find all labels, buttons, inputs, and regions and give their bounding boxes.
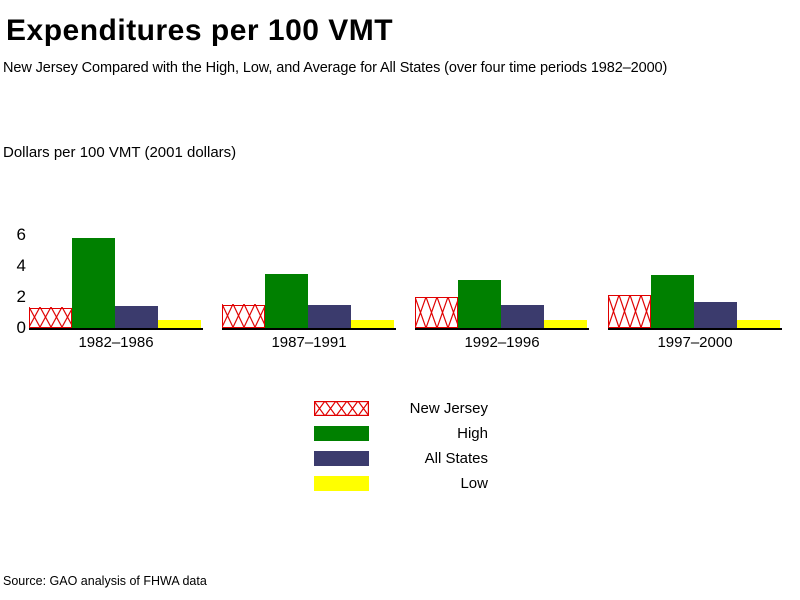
bar-all-states[interactable] xyxy=(308,305,351,328)
bar-high[interactable] xyxy=(265,274,308,328)
x-axis-tick-label: 1987–1991 xyxy=(222,334,396,351)
bar-low[interactable] xyxy=(158,320,201,328)
x-axis-baseline xyxy=(608,328,782,330)
bar-low[interactable] xyxy=(737,320,780,328)
legend-item-high[interactable]: High xyxy=(314,421,488,446)
bar-new-jersey[interactable] xyxy=(608,295,651,328)
x-axis-baseline xyxy=(415,328,589,330)
plot-area: 02461982–19861987–19911992–19961997–2000 xyxy=(0,0,800,600)
legend-swatch-all-states xyxy=(314,451,369,466)
y-axis-tick-label: 0 xyxy=(0,319,26,336)
bar-all-states[interactable] xyxy=(501,305,544,328)
x-axis-tick-label: 1997–2000 xyxy=(608,334,782,351)
legend-label-high: High xyxy=(379,425,488,442)
bar-new-jersey[interactable] xyxy=(29,308,72,328)
legend-swatch-new-jersey xyxy=(314,401,369,416)
bar-new-jersey[interactable] xyxy=(415,297,458,328)
legend-swatch-low xyxy=(314,476,369,491)
bar-all-states[interactable] xyxy=(115,306,158,328)
x-axis-baseline xyxy=(29,328,203,330)
legend-swatch-high xyxy=(314,426,369,441)
legend-label-new-jersey: New Jersey xyxy=(379,400,488,417)
x-axis-baseline xyxy=(222,328,396,330)
bar-high[interactable] xyxy=(651,275,694,328)
legend-label-low: Low xyxy=(379,475,488,492)
bar-all-states[interactable] xyxy=(694,302,737,328)
bar-new-jersey[interactable] xyxy=(222,305,265,328)
bar-low[interactable] xyxy=(351,320,394,328)
bar-high[interactable] xyxy=(72,238,115,328)
source-note: Source: GAO analysis of FHWA data xyxy=(3,574,207,588)
bar-high[interactable] xyxy=(458,280,501,328)
chart-legend: New Jersey High All States Low xyxy=(314,396,488,496)
bar-low[interactable] xyxy=(544,320,587,328)
y-axis-tick-label: 2 xyxy=(0,288,26,305)
y-axis-tick-label: 6 xyxy=(0,226,26,243)
legend-item-all-states[interactable]: All States xyxy=(314,446,488,471)
x-axis-tick-label: 1982–1986 xyxy=(29,334,203,351)
legend-label-all-states: All States xyxy=(379,450,488,467)
x-axis-tick-label: 1992–1996 xyxy=(415,334,589,351)
legend-item-low[interactable]: Low xyxy=(314,471,488,496)
legend-item-new-jersey[interactable]: New Jersey xyxy=(314,396,488,421)
y-axis-tick-label: 4 xyxy=(0,257,26,274)
